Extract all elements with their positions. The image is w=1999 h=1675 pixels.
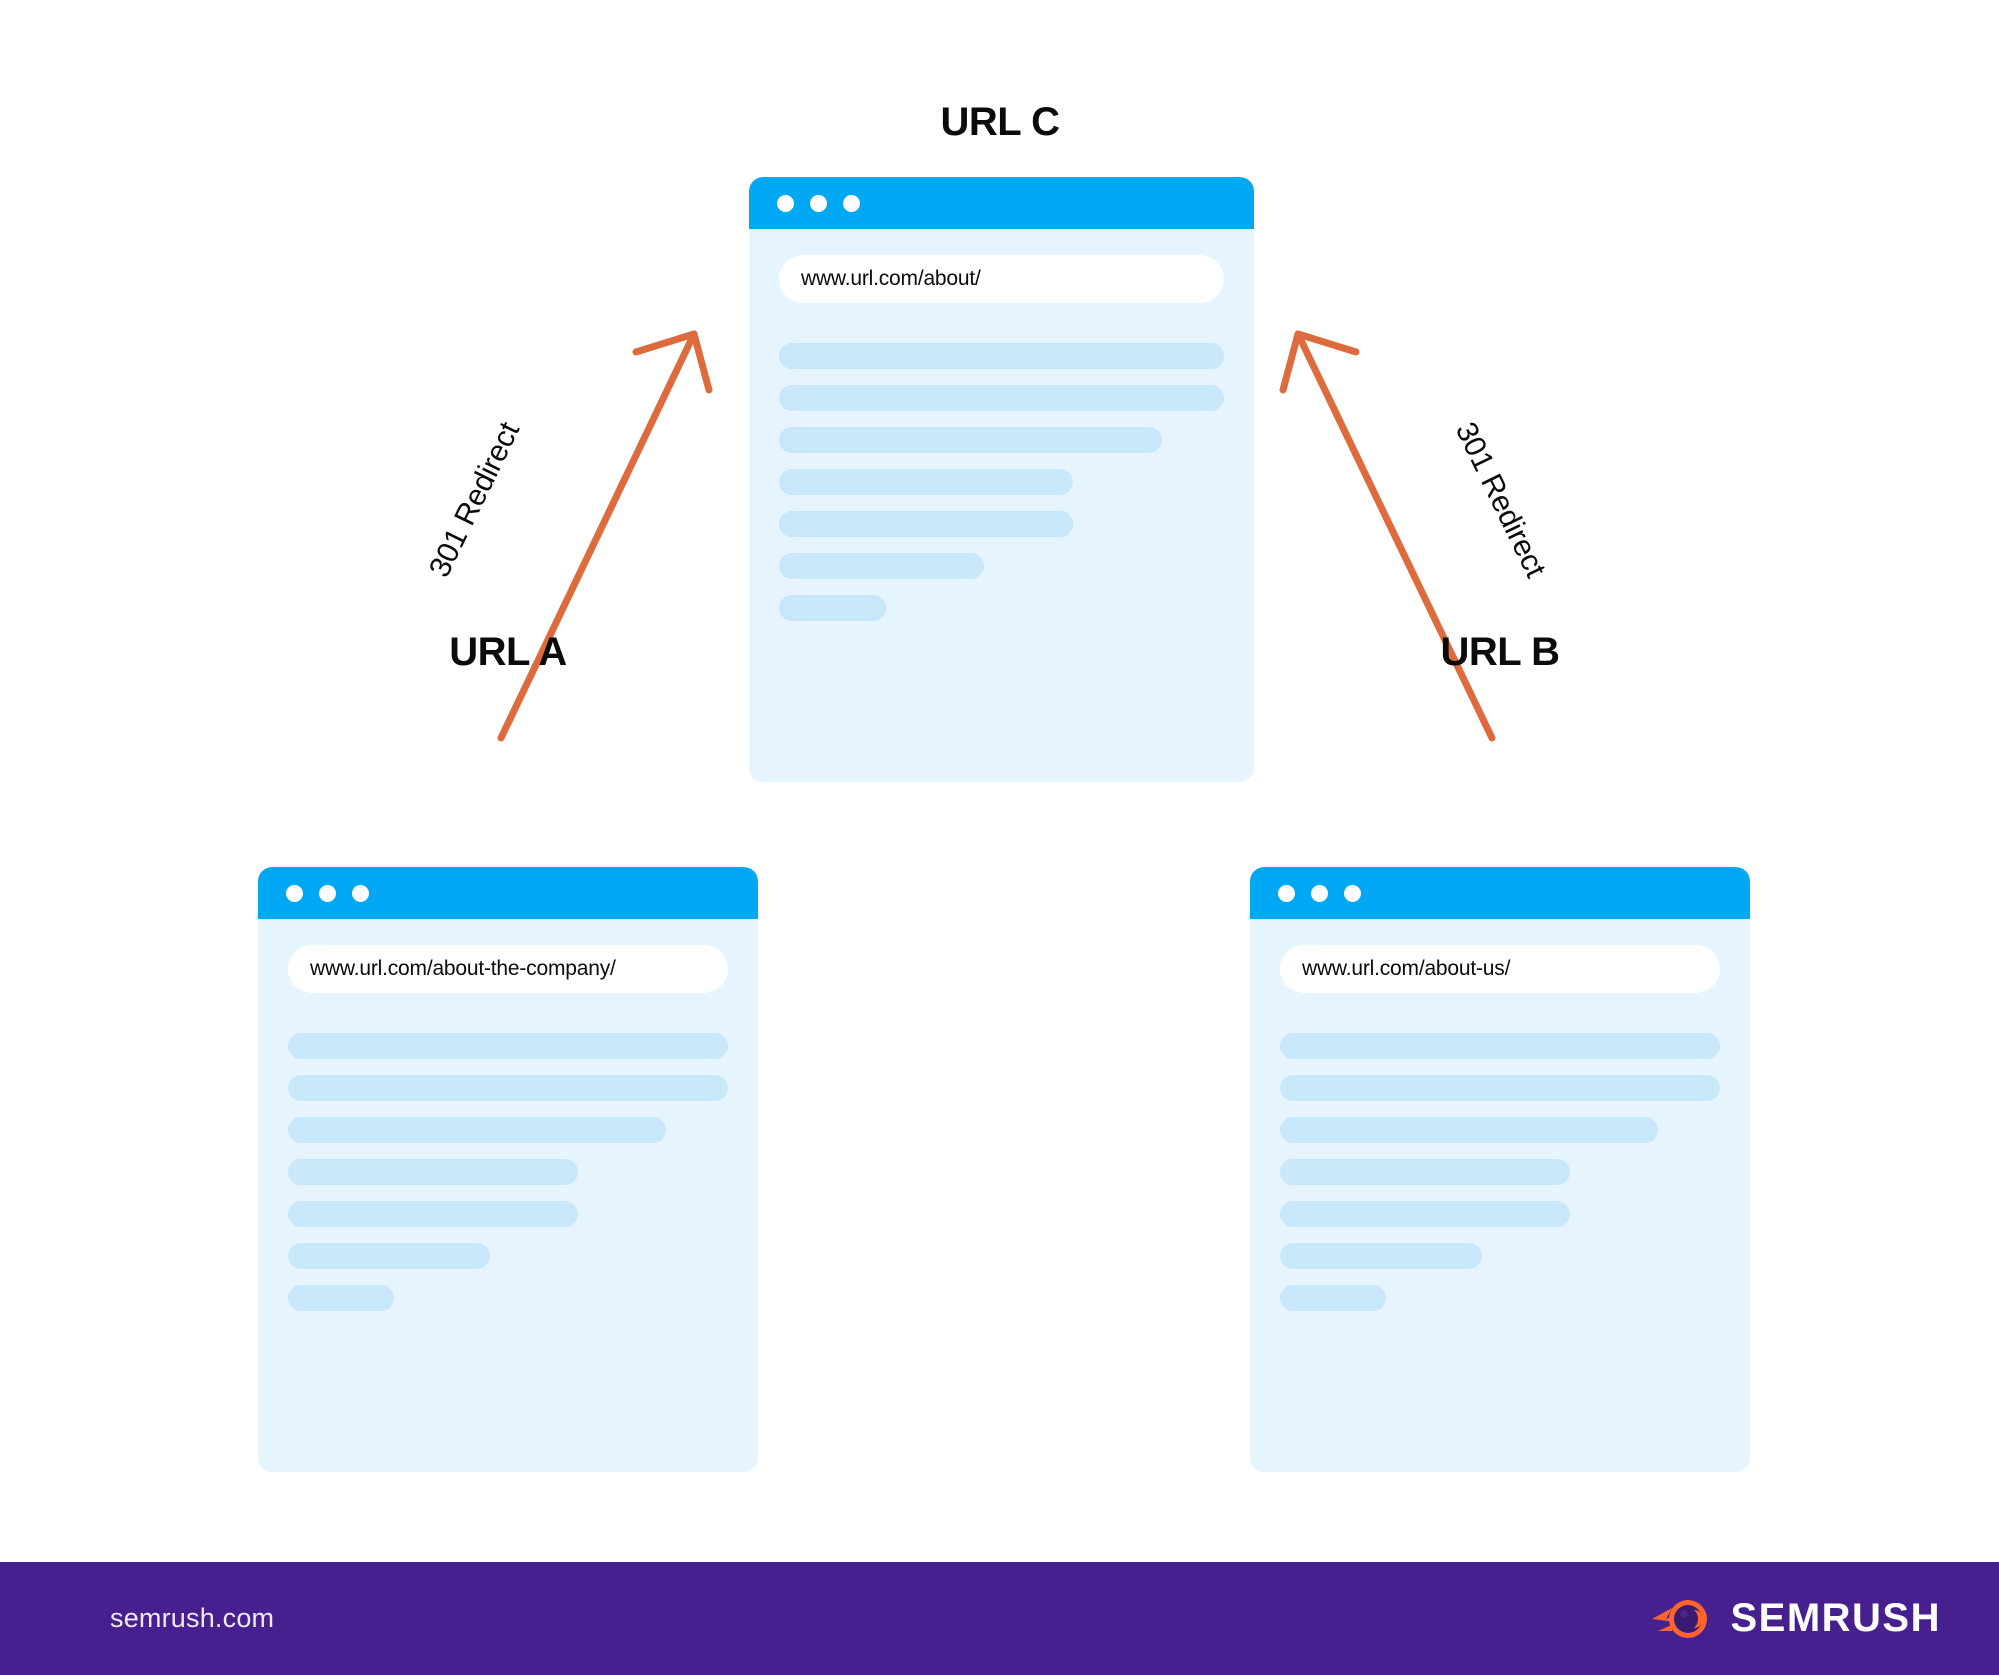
browser-window-url-b[interactable]: www.url.com/about-us/ xyxy=(1250,867,1750,1472)
browser-window-url-c[interactable]: www.url.com/about/ xyxy=(749,177,1254,782)
content-line xyxy=(288,1033,728,1059)
semrush-comet-logo-icon xyxy=(1650,1595,1712,1643)
content-line xyxy=(779,427,1162,453)
content-line xyxy=(288,1117,666,1143)
content-line xyxy=(779,595,886,621)
content-line xyxy=(1280,1075,1720,1101)
content-line xyxy=(1280,1159,1570,1185)
arrow-a-to-c xyxy=(501,334,709,738)
window-body-url-c: www.url.com/about/ xyxy=(749,229,1254,782)
content-line xyxy=(288,1285,394,1311)
content-line xyxy=(1280,1117,1658,1143)
window-dot-icon[interactable] xyxy=(1278,885,1295,902)
titlebar-url-a xyxy=(258,867,758,919)
window-dot-icon[interactable] xyxy=(777,195,794,212)
titlebar-url-c xyxy=(749,177,1254,229)
content-line xyxy=(1280,1033,1720,1059)
browser-window-url-a[interactable]: www.url.com/about-the-company/ xyxy=(258,867,758,1472)
footer-site-url[interactable]: semrush.com xyxy=(110,1603,274,1634)
footer-bar: semrush.com SEMRUSH xyxy=(0,1562,1999,1675)
window-label-url-c: URL C xyxy=(941,100,1060,145)
content-line xyxy=(1280,1243,1482,1269)
content-line xyxy=(1280,1201,1570,1227)
window-dot-icon[interactable] xyxy=(286,885,303,902)
url-address-bar-a[interactable]: www.url.com/about-the-company/ xyxy=(288,945,728,993)
window-dot-icon[interactable] xyxy=(352,885,369,902)
url-address-bar-c[interactable]: www.url.com/about/ xyxy=(779,255,1224,303)
content-placeholder-lines-b xyxy=(1280,1033,1720,1311)
content-line xyxy=(288,1159,578,1185)
content-line xyxy=(779,553,984,579)
content-line xyxy=(779,469,1073,495)
window-label-url-a: URL A xyxy=(449,630,567,675)
content-placeholder-lines-c xyxy=(779,343,1224,621)
content-line xyxy=(779,343,1224,369)
content-line xyxy=(1280,1285,1386,1311)
diagram-canvas: 301 Redirect 301 Redirect URL C www.url.… xyxy=(0,0,1999,1675)
arrow-b-to-c xyxy=(1283,334,1492,738)
content-line xyxy=(288,1201,578,1227)
semrush-brand-lockup[interactable]: SEMRUSH xyxy=(1650,1595,1941,1643)
window-dot-icon[interactable] xyxy=(1311,885,1328,902)
content-line xyxy=(288,1075,728,1101)
window-dot-icon[interactable] xyxy=(843,195,860,212)
content-line xyxy=(779,385,1224,411)
content-line xyxy=(288,1243,490,1269)
content-line xyxy=(779,511,1073,537)
titlebar-url-b xyxy=(1250,867,1750,919)
window-body-url-a: www.url.com/about-the-company/ xyxy=(258,919,758,1472)
content-placeholder-lines-a xyxy=(288,1033,728,1311)
window-dot-icon[interactable] xyxy=(810,195,827,212)
window-body-url-b: www.url.com/about-us/ xyxy=(1250,919,1750,1472)
arrow-label-b-to-c: 301 Redirect xyxy=(1448,417,1552,583)
arrow-label-a-to-c: 301 Redirect xyxy=(423,417,527,583)
window-label-url-b: URL B xyxy=(1441,630,1560,675)
window-dot-icon[interactable] xyxy=(1344,885,1361,902)
url-address-bar-b[interactable]: www.url.com/about-us/ xyxy=(1280,945,1720,993)
semrush-wordmark: SEMRUSH xyxy=(1730,1596,1941,1641)
window-dot-icon[interactable] xyxy=(319,885,336,902)
